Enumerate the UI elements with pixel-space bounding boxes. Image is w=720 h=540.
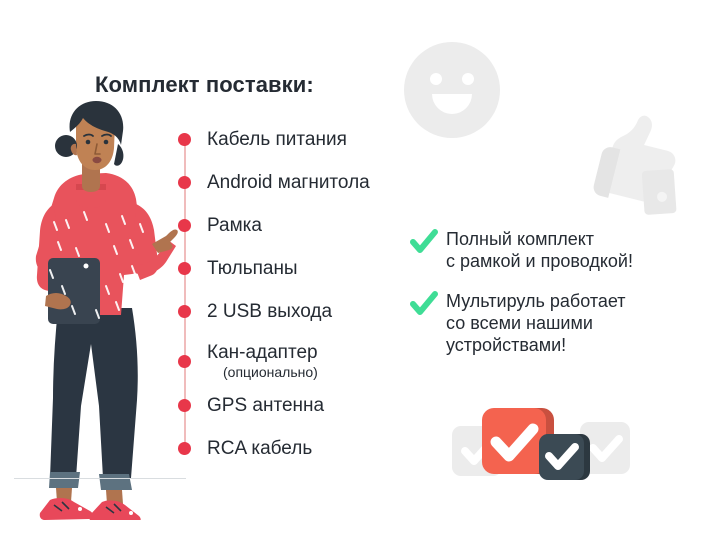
list-item-label: RCA кабель	[207, 437, 312, 460]
benefit-line: устройствами!	[446, 334, 626, 356]
list-item: Кан-адаптер (опционально)	[178, 341, 428, 381]
woman-pointing-illustration	[10, 100, 180, 520]
poster-canvas: Комплект поставки: Кабель питания Androi…	[0, 0, 720, 540]
list-item: 2 USB выхода	[178, 300, 428, 323]
list-item: GPS антенна	[178, 394, 428, 417]
ground-line	[14, 478, 186, 479]
benefit-line: Мультируль работает	[446, 290, 626, 312]
bullet-dot-icon	[178, 176, 191, 189]
bullet-dot-icon	[178, 399, 191, 412]
supply-list: Кабель питания Android магнитола Рамка Т…	[178, 128, 418, 458]
benefit-line: со всеми нашими	[446, 312, 626, 334]
list-item-label: Кабель питания	[207, 128, 347, 151]
list-item-label: Рамка	[207, 214, 262, 237]
benefits-list: Полный комплект с рамкой и проводкой! Му…	[410, 228, 700, 356]
list-item: Кабель питания	[178, 128, 428, 151]
list-item: Android магнитола	[178, 171, 428, 194]
benefit-item: Полный комплект с рамкой и проводкой!	[410, 228, 700, 272]
bullet-dot-icon	[178, 442, 191, 455]
check-mark-icon	[410, 229, 438, 255]
benefit-line: Полный комплект	[446, 228, 633, 250]
thumbs-up-icon	[566, 100, 694, 220]
list-item: Тюльпаны	[178, 257, 428, 280]
checkbox-cards-icon	[452, 400, 630, 496]
bullet-dot-icon	[178, 305, 191, 318]
bullet-dot-icon	[178, 219, 191, 232]
benefit-line: с рамкой и проводкой!	[446, 250, 633, 272]
list-item-sublabel: (опционально)	[223, 364, 318, 381]
list-item-label: Тюльпаны	[207, 257, 298, 280]
bullet-dot-icon	[178, 262, 191, 275]
list-item-label: GPS антенна	[207, 394, 324, 417]
check-mark-icon	[410, 291, 438, 317]
list-item: RCA кабель	[178, 437, 428, 460]
avito-watermark: Avito	[614, 502, 706, 530]
list-item: Рамка	[178, 214, 428, 237]
list-item-label: 2 USB выхода	[207, 300, 332, 323]
page-title: Комплект поставки:	[95, 72, 314, 98]
svg-text:Avito: Avito	[642, 506, 694, 529]
benefit-item: Мультируль работает со всеми нашими устр…	[410, 290, 700, 356]
list-item-label: Android магнитола	[207, 171, 370, 194]
bullet-dot-icon	[178, 133, 191, 146]
bullet-dot-icon	[178, 355, 191, 368]
list-item-label: Кан-адаптер	[207, 341, 318, 364]
